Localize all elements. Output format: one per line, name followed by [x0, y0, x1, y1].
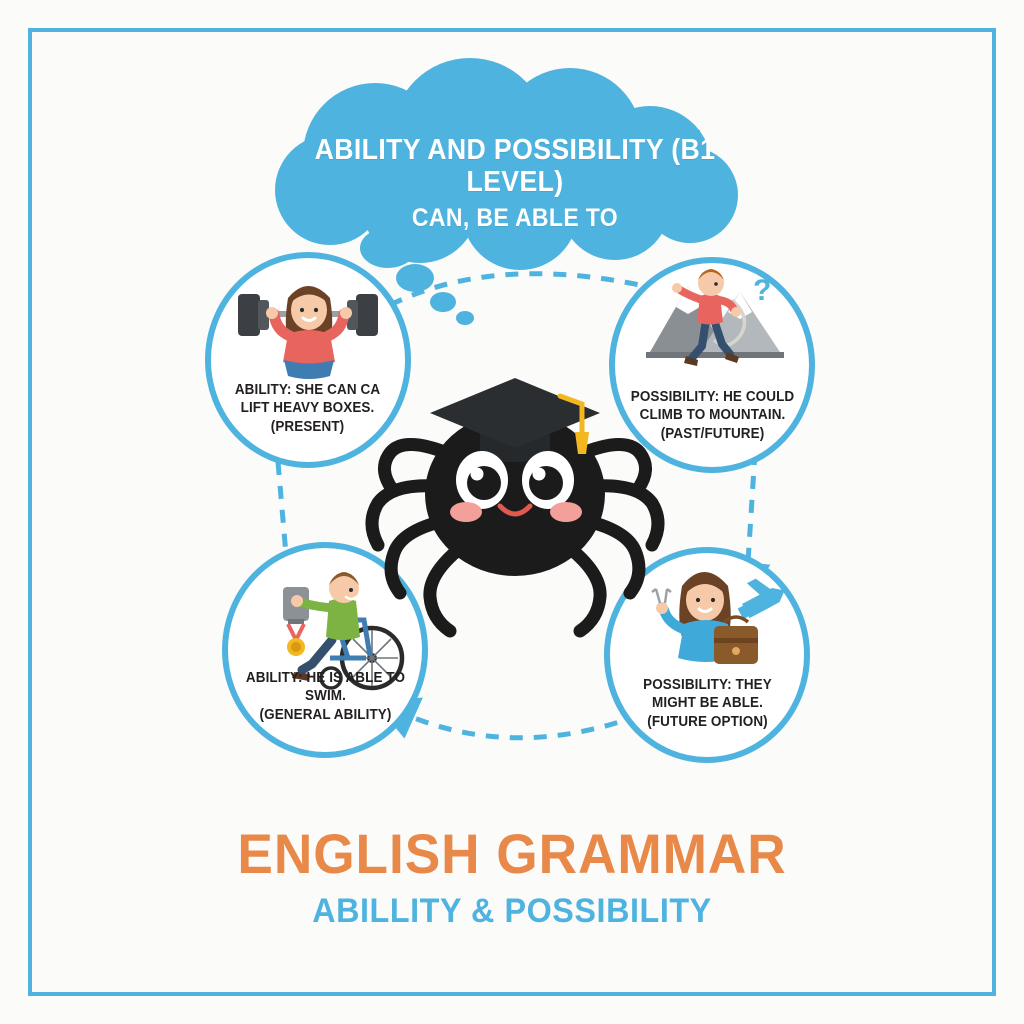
caption-line: POSSIBILITY: THEY	[608, 676, 808, 694]
node-caption-top-left: ABILITY: SHE CAN CA LIFT HEAVY BOXES. (P…	[208, 381, 408, 436]
node-caption-bottom-right: POSSIBILITY: THEY MIGHT BE ABLE. (FUTURE…	[608, 676, 808, 731]
caption-line: (PRESENT)	[208, 418, 408, 436]
connector-br-to-bl	[400, 712, 640, 738]
caption-line: ABILITY: SHE CAN CA	[208, 381, 408, 399]
caption-line: (FUTURE OPTION)	[608, 713, 808, 731]
caption-line: (PAST/FUTURE)	[613, 425, 813, 443]
footer-subtitle: ABILLITY & POSSIBILITY	[26, 894, 999, 928]
title-line-1: ABILITY AND POSSIBILITY (B1 LEVEL)	[308, 134, 722, 199]
title-line-2: CAN, BE ABLE TO	[308, 204, 722, 232]
infographic-poster: ?	[0, 0, 1024, 1024]
title-block: ABILITY AND POSSIBILITY (B1 LEVEL) CAN, …	[290, 134, 740, 232]
node-caption-top-right: POSSIBILITY: HE COULD CLIMB TO MOUNTAIN.…	[613, 388, 813, 443]
footer-block: ENGLISH GRAMMAR ABILLITY & POSSIBILITY	[0, 826, 1024, 928]
caption-line: CLIMB TO MOUNTAIN.	[613, 406, 813, 424]
caption-line: POSSIBILITY: HE COULD	[613, 388, 813, 406]
caption-line: (GENERAL ABILITY)	[226, 706, 426, 724]
node-caption-bottom-left: ABILITY: HE IS ABLE TO SWIM. (GENERAL AB…	[226, 669, 426, 724]
svg-text:?: ?	[753, 274, 771, 307]
caption-line: MIGHT BE ABLE.	[608, 694, 808, 712]
caption-line: LIFT HEAVY BOXES.	[208, 399, 408, 417]
footer-title: ENGLISH GRAMMAR	[26, 826, 999, 882]
caption-line: ABILITY: HE IS ABLE TO SWIM.	[226, 669, 426, 706]
